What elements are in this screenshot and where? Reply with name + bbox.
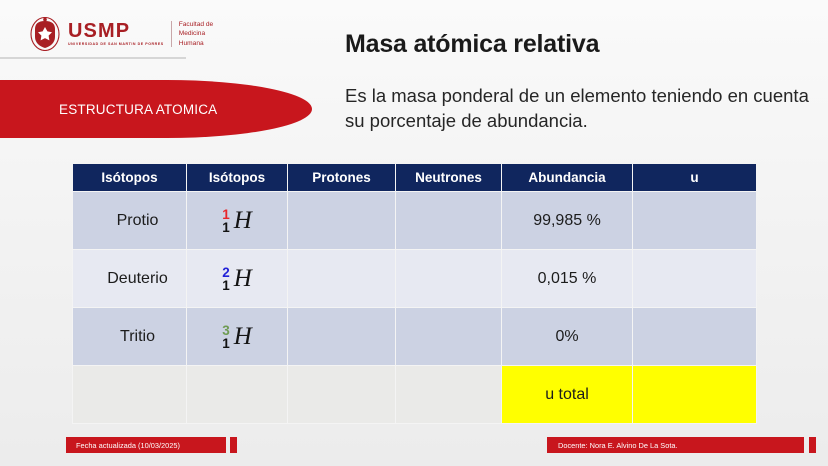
isotopes-table: Isótopos Isótopos Protones Neutrones Abu… xyxy=(72,163,757,424)
element-symbol: H xyxy=(234,265,252,293)
isotope-notation: 3 1 H xyxy=(222,323,252,351)
cell-neutrones xyxy=(396,192,502,250)
cell-neutrones xyxy=(396,250,502,308)
cell-u xyxy=(633,192,757,250)
section-banner-label: ESTRUCTURA ATOMICA xyxy=(59,102,217,117)
cell-u-total-label: u total xyxy=(502,366,633,424)
cell-isotope-notation xyxy=(187,366,288,424)
cell-isotope-name: Deuterio xyxy=(73,250,187,308)
mass-number: 1 xyxy=(222,208,230,222)
logo-wordmark: USMP UNIVERSIDAD DE SAN MARTIN DE PORRES… xyxy=(68,20,213,49)
atomic-number: 1 xyxy=(222,221,230,235)
usmp-university-line: UNIVERSIDAD DE SAN MARTIN DE PORRES xyxy=(68,43,164,47)
cell-protones xyxy=(288,192,396,250)
faculty-line-2: Medicina xyxy=(179,29,213,39)
table-row: Protio 1 1 H 99,985 % xyxy=(73,192,757,250)
page-title: Masa atómica relativa xyxy=(345,30,599,59)
table-total-row: u total xyxy=(73,366,757,424)
cell-u-total-value xyxy=(633,366,757,424)
table-row: Deuterio 2 1 H 0,015 % xyxy=(73,250,757,308)
cell-isotope-name: Protio xyxy=(73,192,187,250)
cell-isotope-name xyxy=(73,366,187,424)
isotope-numbers: 1 1 xyxy=(222,208,230,236)
mass-number: 2 xyxy=(222,266,230,280)
logo-divider xyxy=(171,21,172,47)
atomic-number: 1 xyxy=(222,279,230,293)
cell-isotope-notation: 3 1 H xyxy=(187,308,288,366)
footer-date-bar: Fecha actualizada (10/03/2025) xyxy=(66,437,226,453)
cell-protones xyxy=(288,366,396,424)
page-subtitle: Es la masa ponderal de un elemento tenie… xyxy=(345,83,810,134)
usmp-shield-crest-icon xyxy=(30,17,60,51)
faculty-line-1: Facultad de xyxy=(179,20,213,30)
atomic-number: 1 xyxy=(222,337,230,351)
col-header-abundancia: Abundancia xyxy=(502,164,633,192)
slide-canvas: USMP UNIVERSIDAD DE SAN MARTIN DE PORRES… xyxy=(0,0,828,466)
isotope-notation: 1 1 H xyxy=(222,207,252,235)
cell-isotope-name: Tritio xyxy=(73,308,187,366)
mass-number: 3 xyxy=(222,324,230,338)
cell-u xyxy=(633,250,757,308)
isotope-numbers: 2 1 xyxy=(222,266,230,294)
section-banner: ESTRUCTURA ATOMICA xyxy=(0,80,312,138)
footer-teacher-bar: Docente: Nora E. Alvino De La Sota. xyxy=(547,437,804,453)
cell-protones xyxy=(288,250,396,308)
header-divider xyxy=(0,57,186,59)
cell-neutrones xyxy=(396,308,502,366)
element-symbol: H xyxy=(234,323,252,351)
col-header-isotope-name: Isótopos xyxy=(73,164,187,192)
cell-isotope-notation: 2 1 H xyxy=(187,250,288,308)
table-header-row: Isótopos Isótopos Protones Neutrones Abu… xyxy=(73,164,757,192)
cell-abundancia: 99,985 % xyxy=(502,192,633,250)
usmp-logo: USMP UNIVERSIDAD DE SAN MARTIN DE PORRES… xyxy=(30,10,210,58)
footer-date-label: Fecha actualizada (10/03/2025) xyxy=(76,441,180,450)
element-symbol: H xyxy=(234,207,252,235)
col-header-isotope-symbol: Isótopos xyxy=(187,164,288,192)
isotope-notation: 2 1 H xyxy=(222,265,252,293)
footer-teacher-label: Docente: Nora E. Alvino De La Sota. xyxy=(558,441,678,450)
cell-abundancia: 0,015 % xyxy=(502,250,633,308)
col-header-neutrones: Neutrones xyxy=(396,164,502,192)
cell-neutrones xyxy=(396,366,502,424)
col-header-u: u xyxy=(633,164,757,192)
footer-right-accent xyxy=(809,437,816,453)
faculty-line-3: Humana xyxy=(179,39,213,49)
cell-isotope-notation: 1 1 H xyxy=(187,192,288,250)
cell-u xyxy=(633,308,757,366)
table-row: Tritio 3 1 H 0% xyxy=(73,308,757,366)
faculty-name: Facultad de Medicina Humana xyxy=(179,20,213,49)
isotope-numbers: 3 1 xyxy=(222,324,230,352)
footer-left-accent xyxy=(230,437,237,453)
cell-abundancia: 0% xyxy=(502,308,633,366)
usmp-acronym: USMP xyxy=(68,21,164,41)
col-header-protones: Protones xyxy=(288,164,396,192)
cell-protones xyxy=(288,308,396,366)
